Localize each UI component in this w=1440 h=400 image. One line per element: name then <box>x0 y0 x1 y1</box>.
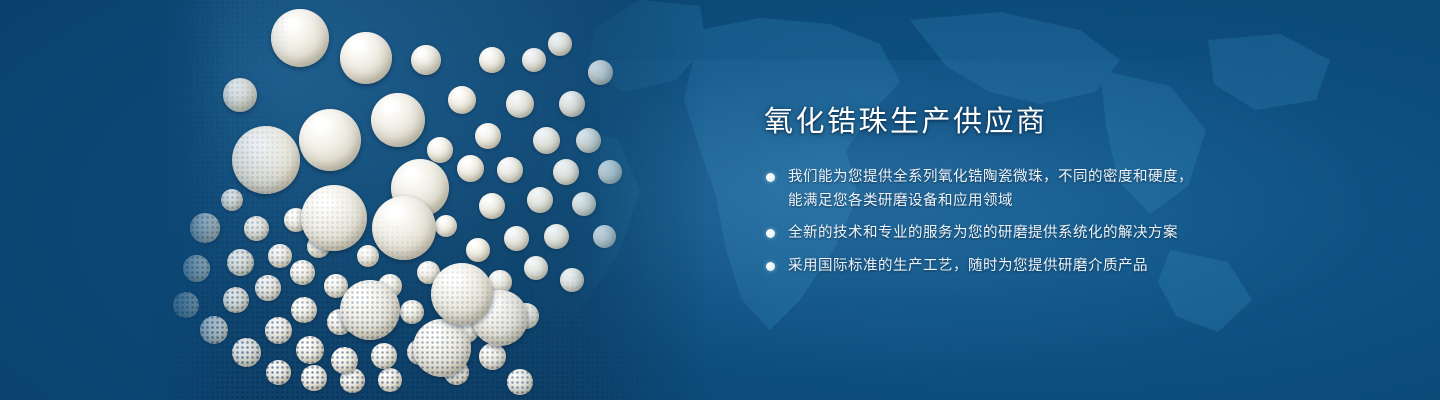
zirconia-bead <box>457 155 484 182</box>
zirconia-bead <box>255 275 281 301</box>
feature-item-1-line-1: 我们能为您提供全系列氧化锆陶瓷微珠，不同的密度和硬度， <box>788 166 1232 189</box>
zirconia-bead <box>265 317 292 344</box>
zirconia-bead <box>299 109 361 171</box>
zirconia-bead-cluster <box>150 0 710 400</box>
zirconia-bead <box>223 78 257 112</box>
feature-list: 我们能为您提供全系列氧化锆陶瓷微珠，不同的密度和硬度， 能满足您各类研磨设备和应… <box>762 166 1232 278</box>
zirconia-bead <box>301 185 367 251</box>
zirconia-bead <box>340 32 392 84</box>
zirconia-bead <box>448 86 476 114</box>
zirconia-bead <box>533 127 560 154</box>
zirconia-bead <box>290 260 315 285</box>
zirconia-bead <box>371 93 425 147</box>
feature-item-3: 采用国际标准的生产工艺，随时为您提供研磨介质产品 <box>762 255 1232 278</box>
zirconia-bead <box>232 126 300 194</box>
zirconia-bead <box>506 90 534 118</box>
zirconia-bead <box>560 268 584 292</box>
zirconia-bead <box>479 343 506 370</box>
zirconia-bead <box>221 189 243 211</box>
bullet-dot-icon <box>766 262 775 271</box>
zirconia-bead <box>497 157 523 183</box>
zirconia-bead <box>173 292 199 318</box>
product-photo <box>150 0 710 400</box>
zirconia-bead <box>553 159 579 185</box>
zirconia-bead <box>223 287 249 313</box>
zirconia-bead <box>507 369 533 395</box>
bullet-dot-icon <box>766 173 775 182</box>
feature-item-2-line-1: 全新的技术和专业的服务为您的研磨提供系统化的解决方案 <box>788 222 1232 245</box>
zirconia-bead <box>331 347 358 374</box>
zirconia-bead <box>598 160 622 184</box>
zirconia-bead <box>548 32 572 56</box>
zirconia-bead <box>400 300 424 324</box>
zirconia-bead <box>291 297 317 323</box>
feature-item-1-line-2: 能满足您各类研磨设备和应用领域 <box>788 190 1232 213</box>
zirconia-bead <box>271 9 329 67</box>
zirconia-bead <box>431 263 493 325</box>
zirconia-bead <box>427 137 453 163</box>
banner-headline: 氧化锆珠生产供应商 <box>764 104 1232 140</box>
feature-item-2: 全新的技术和专业的服务为您的研磨提供系统化的解决方案 <box>762 222 1232 245</box>
zirconia-bead <box>504 226 529 251</box>
feature-item-1: 我们能为您提供全系列氧化锆陶瓷微珠，不同的密度和硬度， 能满足您各类研磨设备和应… <box>762 166 1232 213</box>
zirconia-bead <box>479 47 505 73</box>
zirconia-bead <box>266 360 291 385</box>
feature-item-3-line-1: 采用国际标准的生产工艺，随时为您提供研磨介质产品 <box>788 255 1232 278</box>
zirconia-bead <box>475 123 501 149</box>
zirconia-bead <box>527 187 553 213</box>
zirconia-bead <box>296 336 324 364</box>
zirconia-bead <box>466 238 490 262</box>
zirconia-bead <box>479 193 505 219</box>
zirconia-bead <box>576 128 601 153</box>
zirconia-bead <box>559 91 585 117</box>
zirconia-bead <box>413 319 471 377</box>
zirconia-bead <box>411 45 441 75</box>
zirconia-bead <box>301 365 327 391</box>
zirconia-bead <box>200 316 228 344</box>
zirconia-bead <box>232 338 261 367</box>
zirconia-bead <box>190 213 220 243</box>
zirconia-bead <box>572 192 596 216</box>
zirconia-bead <box>524 256 548 280</box>
zirconia-bead <box>340 280 400 340</box>
zirconia-bead <box>371 343 397 369</box>
zirconia-bead <box>593 225 616 248</box>
zirconia-bead <box>435 215 457 237</box>
zirconia-bead <box>357 245 379 267</box>
zirconia-bead <box>544 224 569 249</box>
banner-content: 氧化锆珠生产供应商 我们能为您提供全系列氧化锆陶瓷微珠，不同的密度和硬度， 能满… <box>762 104 1232 278</box>
zirconia-bead <box>372 196 436 260</box>
zirconia-bead <box>268 244 292 268</box>
zirconia-bead <box>244 216 269 241</box>
zirconia-bead <box>227 249 254 276</box>
bullet-dot-icon <box>766 229 775 238</box>
zirconia-bead <box>522 48 546 72</box>
zirconia-bead <box>588 60 613 85</box>
zirconia-bead <box>378 368 402 392</box>
hero-banner: 氧化锆珠生产供应商 我们能为您提供全系列氧化锆陶瓷微珠，不同的密度和硬度， 能满… <box>0 0 1440 400</box>
zirconia-bead <box>183 255 210 282</box>
